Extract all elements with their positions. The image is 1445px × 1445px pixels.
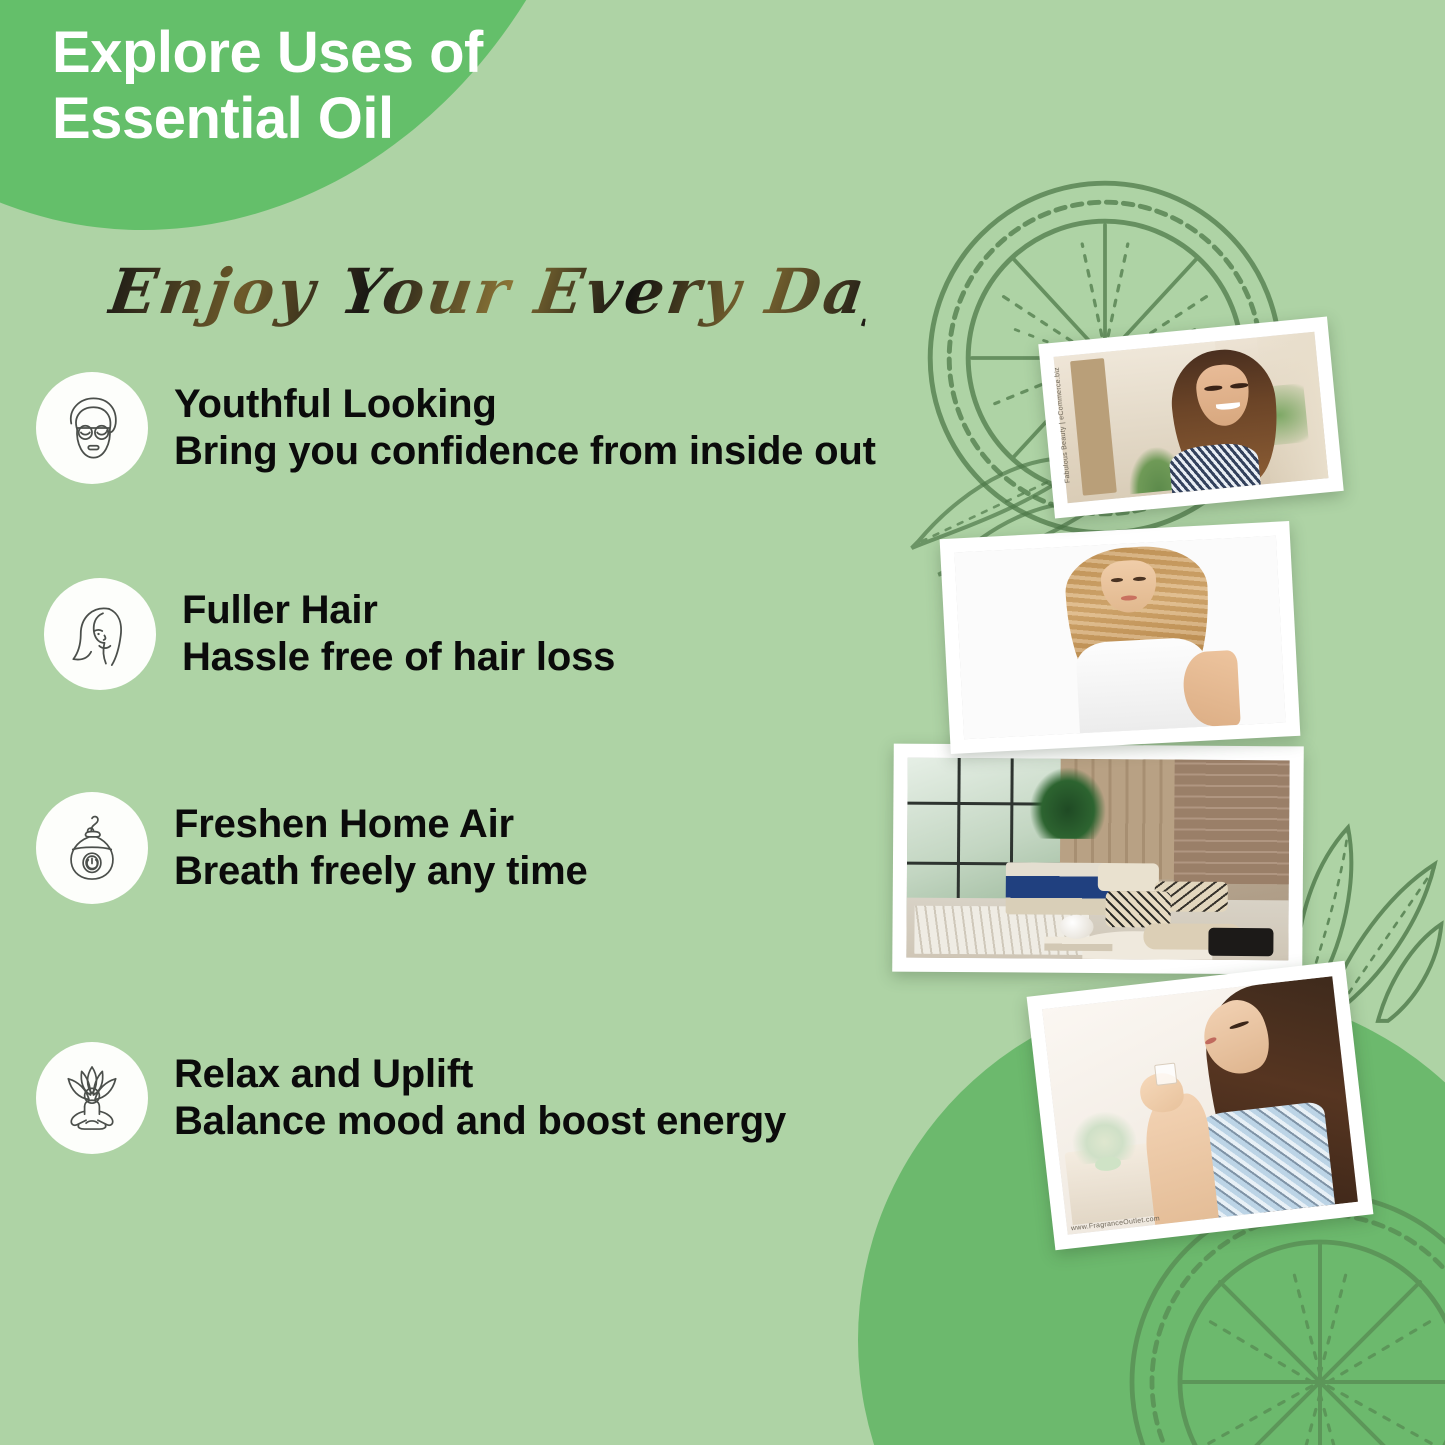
photo-smiling-woman-cafe: Fabulous Beauty | eCommerce.biz <box>1038 317 1343 519</box>
photo-blonde-wavy-hair <box>940 521 1301 754</box>
photo-image <box>1042 976 1358 1235</box>
feature-text-block: Fuller Hair Hassle free of hair loss <box>182 588 615 680</box>
feature-subtitle: Bring you confidence from inside out <box>174 429 876 474</box>
feature-item-fuller-hair: Fuller Hair Hassle free of hair loss <box>44 578 615 690</box>
feature-text-block: Relax and Uplift Balance mood and boost … <box>174 1052 786 1144</box>
feature-item-relax-and-uplift: Relax and Uplift Balance mood and boost … <box>36 1042 786 1154</box>
feature-subtitle: Balance mood and boost energy <box>174 1099 786 1144</box>
long-hair-woman-icon <box>44 578 156 690</box>
photo-image <box>954 536 1285 740</box>
photo-boho-living-room <box>892 744 1304 975</box>
photo-image <box>906 758 1289 961</box>
feature-title: Youthful Looking <box>174 382 876 427</box>
lotus-meditation-icon <box>36 1042 148 1154</box>
feature-title: Fuller Hair <box>182 588 615 633</box>
feature-item-youthful-looking: Youthful Looking Bring you confidence fr… <box>36 372 876 484</box>
tagline-script-text: Enjoy Your Every Day <box>101 255 874 350</box>
infographic-poster: Explore Uses of Essential Oil Enjoy Your… <box>0 0 1445 1445</box>
feature-subtitle: Breath freely any time <box>174 849 588 894</box>
feature-text-block: Freshen Home Air Breath freely any time <box>174 802 588 894</box>
feature-title: Relax and Uplift <box>174 1052 786 1097</box>
feature-text-block: Youthful Looking Bring you confidence fr… <box>174 382 876 474</box>
photo-image <box>1054 332 1329 503</box>
aroma-diffuser-icon <box>36 792 148 904</box>
feature-item-freshen-home-air: Freshen Home Air Breath freely any time <box>36 792 588 904</box>
photo-woman-applying-perfume: www.FragranceOutlet.com <box>1027 961 1374 1251</box>
feature-subtitle: Hassle free of hair loss <box>182 635 615 680</box>
face-mask-icon <box>36 372 148 484</box>
feature-title: Freshen Home Air <box>174 802 588 847</box>
page-title: Explore Uses of Essential Oil <box>52 20 672 151</box>
